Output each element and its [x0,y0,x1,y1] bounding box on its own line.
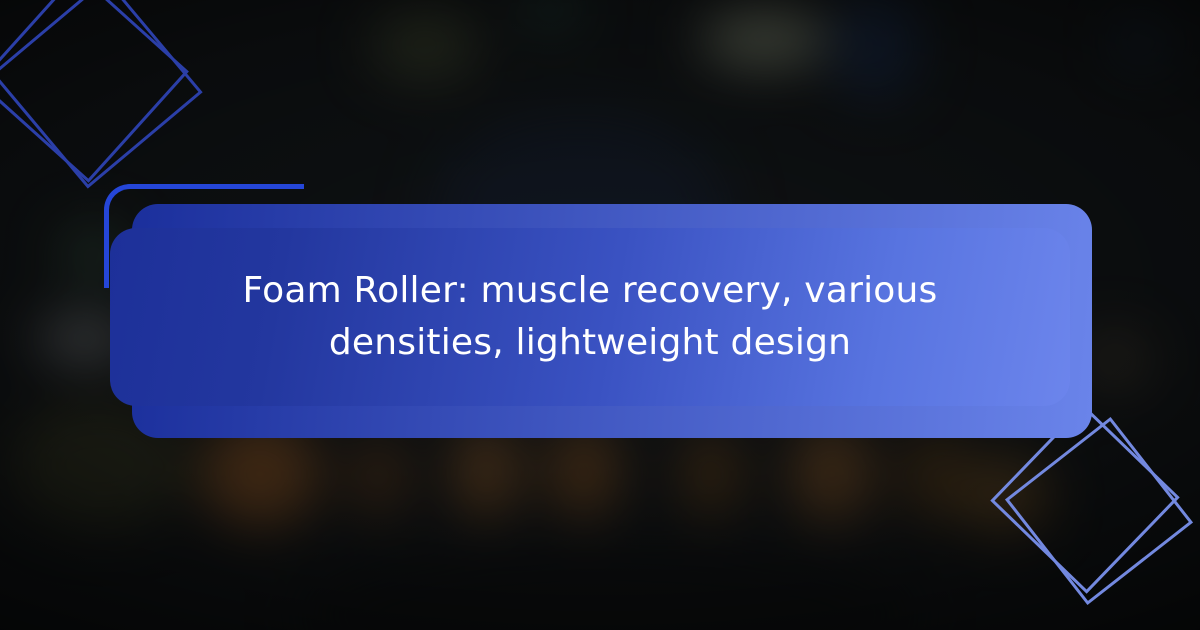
page-title: Foam Roller: muscle recovery, various de… [216,265,965,369]
card-front-layer[interactable]: Foam Roller: muscle recovery, various de… [110,228,1070,406]
promo-banner: Foam Roller: muscle recovery, various de… [0,0,1200,630]
